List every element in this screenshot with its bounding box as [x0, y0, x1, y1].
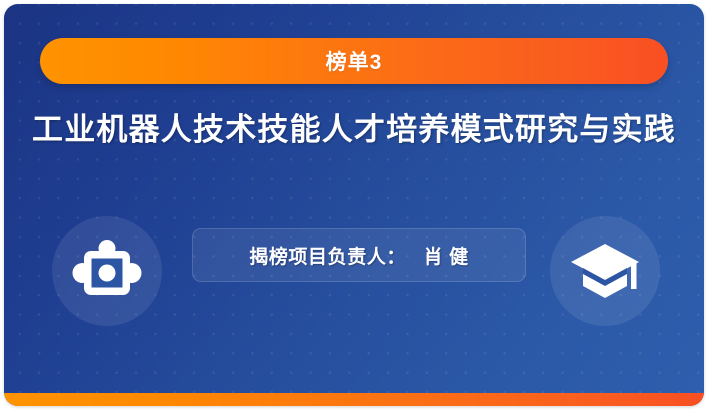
robot-icon — [71, 235, 143, 307]
project-leader-box: 揭榜项目负责人： 肖 健 — [192, 228, 526, 282]
project-leader-text: 揭榜项目负责人： 肖 健 — [249, 242, 469, 269]
robot-icon-container — [52, 216, 162, 326]
rank-badge-label: 榜单3 — [326, 46, 383, 76]
award-banner-card: 榜单3 工业机器人技术技能人才培养模式研究与实践 揭榜项目负责人： 肖 健 — [4, 4, 704, 406]
bottom-accent-strip — [4, 393, 704, 406]
graduation-cap-icon — [569, 238, 641, 304]
graduation-cap-icon-container — [550, 216, 660, 326]
page-title: 工业机器人技术技能人才培养模式研究与实践 — [4, 104, 704, 149]
rank-badge: 榜单3 — [40, 38, 668, 84]
